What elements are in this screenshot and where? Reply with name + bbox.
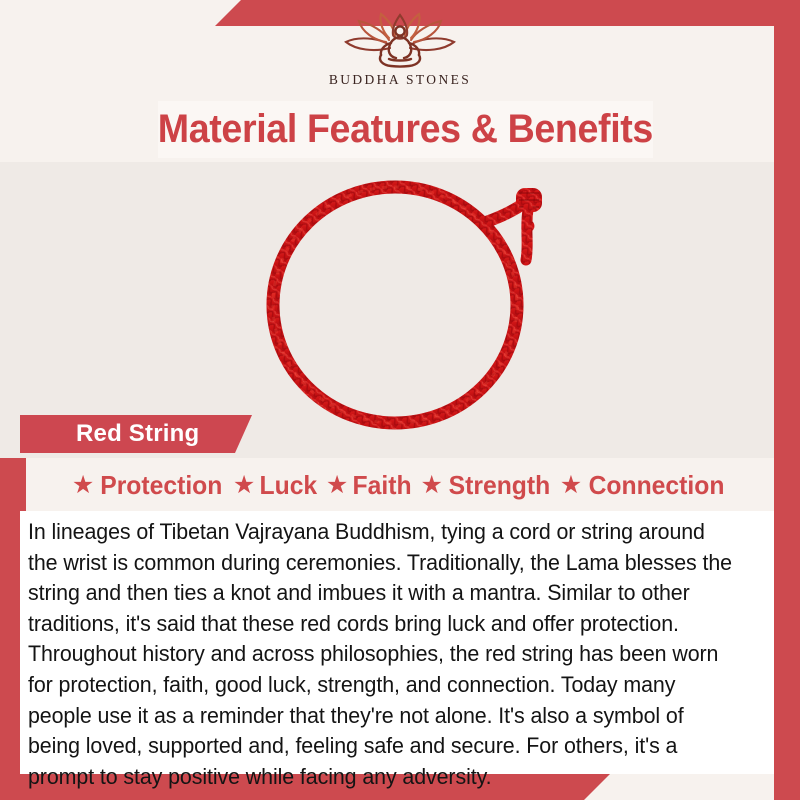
benefit-item: ★ Protection <box>72 470 226 501</box>
star-icon: ★ <box>326 473 348 498</box>
benefit-label: Connection <box>589 470 725 501</box>
benefit-item: ★ Luck <box>233 470 319 501</box>
star-icon: ★ <box>420 473 442 498</box>
benefit-item: ★ Strength <box>420 470 552 501</box>
benefit-label: Strength <box>449 470 551 501</box>
benefit-item: ★ Connection <box>560 470 728 501</box>
description-box: In lineages of Tibetan Vajrayana Buddhis… <box>20 511 774 774</box>
red-braided-cord-bracelet-image <box>228 162 578 440</box>
lotus-meditation-figure-icon <box>334 12 466 70</box>
frame-band-right <box>774 0 800 800</box>
brand-logo: BUDDHA STONES <box>0 12 800 100</box>
page-title-box: Material Features & Benefits <box>158 101 653 158</box>
status-badge-red-string: Red String <box>20 415 252 453</box>
star-icon: ★ <box>560 473 582 498</box>
product-image-panel <box>0 162 774 458</box>
benefits-list: ★ Protection ★ Luck ★ Faith ★ Strength ★… <box>24 466 776 504</box>
benefit-label: Faith <box>353 470 412 501</box>
benefit-label: Protection <box>100 470 222 501</box>
benefit-label: Luck <box>260 470 318 501</box>
description-text: In lineages of Tibetan Vajrayana Buddhis… <box>28 517 736 792</box>
benefit-item: ★ Faith <box>326 470 414 501</box>
poster-canvas: BUDDHA STONES Material Features & Benefi… <box>0 0 800 800</box>
page-title: Material Features & Benefits <box>158 107 653 152</box>
ribbon-label: Red String <box>76 420 199 448</box>
star-icon: ★ <box>72 473 94 498</box>
brand-wordmark: BUDDHA STONES <box>329 72 471 88</box>
star-icon: ★ <box>233 473 255 498</box>
